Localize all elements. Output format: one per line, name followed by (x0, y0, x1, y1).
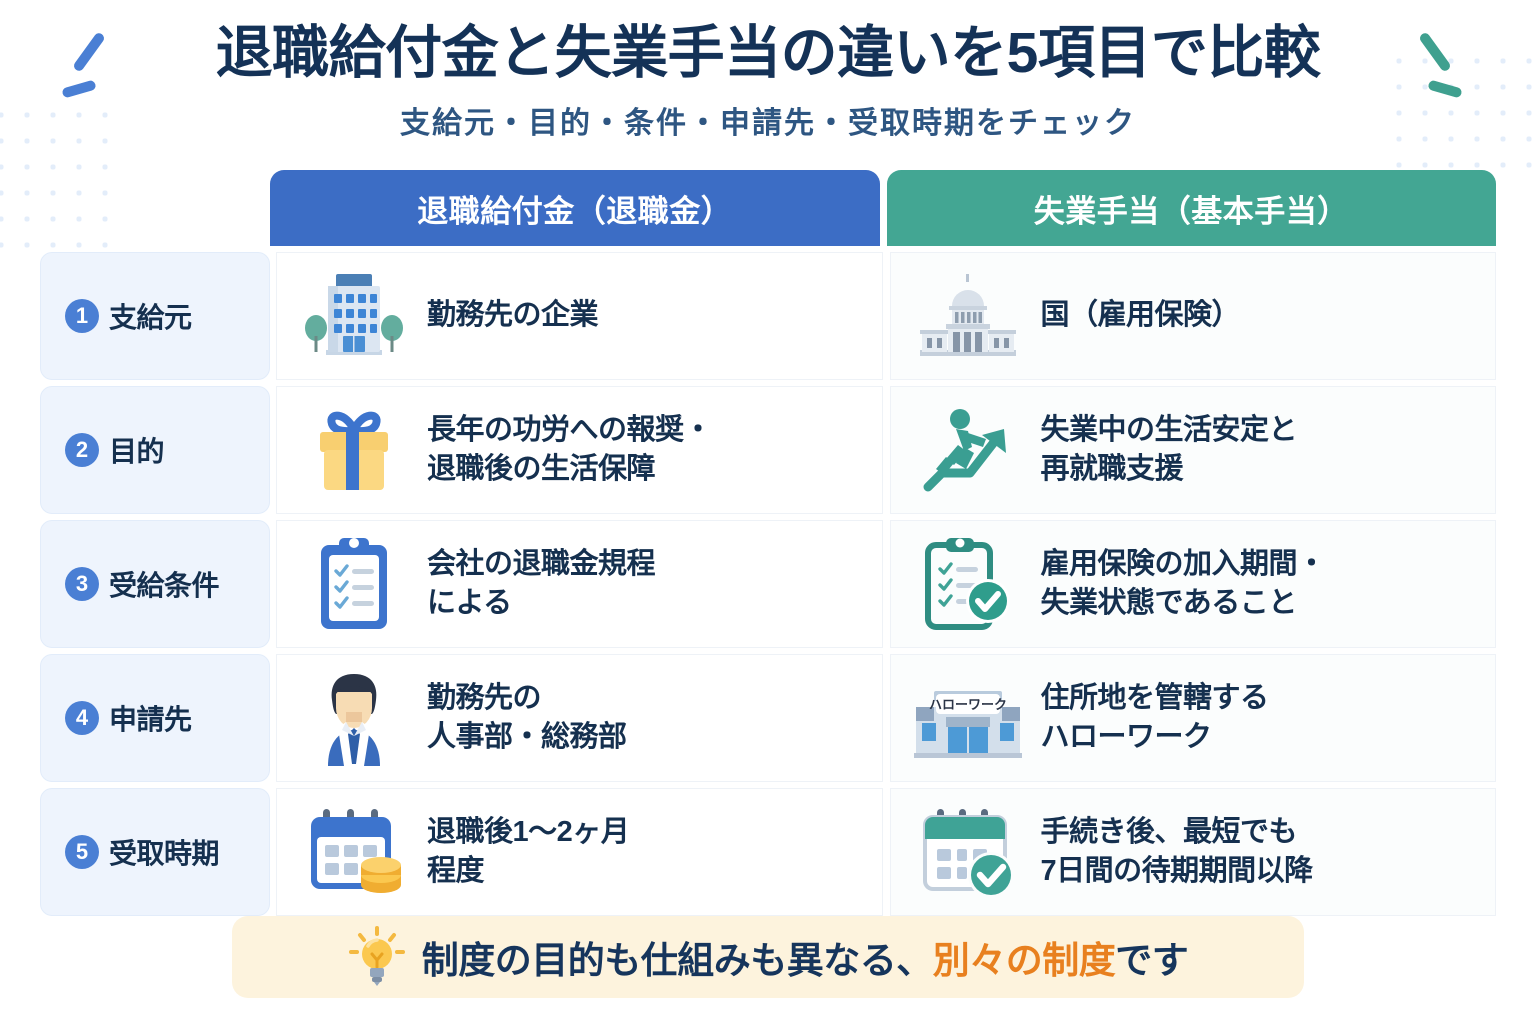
column-header-shitsugyo: 失業手当（基本手当） (887, 170, 1497, 246)
row-label-text: 目的 (109, 430, 164, 470)
row-label-text: 支給元 (109, 296, 192, 336)
row-cell-left: 勤務先の企業 (276, 252, 883, 380)
row-cell-left: 長年の功労への報奨・退職後の生活保障 (276, 386, 883, 514)
row-label-text: 申請先 (109, 698, 192, 738)
calendar-coins-icon (295, 800, 413, 904)
row-cell-text: 長年の功労への報奨・退職後の生活保障 (427, 411, 712, 490)
row-cell-text: 国（雇用保険） (1041, 296, 1241, 335)
businessman-icon (295, 666, 413, 770)
row-cell-text: 住所地を管轄するハローワーク (1041, 679, 1269, 758)
row-cell-text: 勤務先の企業 (427, 296, 598, 335)
row-label-text: 受取時期 (109, 832, 219, 872)
footer-text-after: です (1115, 940, 1188, 981)
row-cell-text: 勤務先の人事部・総務部 (427, 679, 627, 758)
row-number-badge: 2 (65, 433, 99, 467)
row-number-badge: 3 (65, 567, 99, 601)
table-row: 2 目的 長年の功労への報奨・退職後の生活保障 (40, 386, 1496, 514)
row-cell-text: 退職後1〜2ヶ月程度 (427, 813, 629, 892)
page-header: 退職給付金と失業手当の違いを5項目で比較 支給元・目的・条件・申請先・受取時期を… (0, 0, 1536, 142)
column-header-taishoku: 退職給付金（退職金） (270, 170, 880, 246)
running-person-arrow-icon (909, 398, 1027, 502)
footer-text: 制度の目的も仕組みも異なる、別々の制度です (422, 930, 1189, 984)
clipboard-checklist-check-icon (909, 532, 1027, 636)
table-row: 1 支給元 (40, 252, 1496, 380)
table-row: 4 申請先 勤務先の人事部・総務部 (40, 654, 1496, 782)
page-subtitle: 支給元・目的・条件・申請先・受取時期をチェック (0, 98, 1536, 142)
table-row: 5 受取時期 (40, 788, 1496, 916)
row-label-text: 受給条件 (109, 564, 219, 604)
lightbulb-icon (348, 926, 406, 988)
row-number-badge: 4 (65, 701, 99, 735)
row-cell-left: 退職後1〜2ヶ月程度 (276, 788, 883, 916)
header-spacer (40, 170, 270, 246)
row-cell-right: 雇用保険の加入期間・失業状態であること (890, 520, 1497, 648)
row-number-badge: 5 (65, 835, 99, 869)
page-title: 退職給付金と失業手当の違いを5項目で比較 (0, 22, 1536, 86)
clipboard-checklist-icon (295, 532, 413, 636)
row-cell-text: 会社の退職金規程による (427, 545, 655, 624)
row-cell-right: 失業中の生活安定と再就職支援 (890, 386, 1497, 514)
row-cell-text: 雇用保険の加入期間・失業状態であること (1041, 545, 1326, 624)
row-label-cell: 2 目的 (40, 386, 270, 514)
table-header-row: 退職給付金（退職金） 失業手当（基本手当） (40, 170, 1496, 246)
row-label-cell: 3 受給条件 (40, 520, 270, 648)
row-number-badge: 1 (65, 299, 99, 333)
hello-work-building-icon: ハローワーク (909, 666, 1027, 770)
office-building-icon (295, 264, 413, 368)
row-label-cell: 4 申請先 (40, 654, 270, 782)
table-row: 3 受給条件 (40, 520, 1496, 648)
row-cell-text: 手続き後、最短でも7日間の待期期間以降 (1041, 813, 1313, 892)
row-cell-right: 国（雇用保険） (890, 252, 1497, 380)
comparison-table: 退職給付金（退職金） 失業手当（基本手当） 1 支給元 (40, 170, 1496, 916)
row-cell-right: 手続き後、最短でも7日間の待期期間以降 (890, 788, 1497, 916)
footer-text-highlight: 別々の制度 (933, 940, 1116, 981)
row-label-cell: 5 受取時期 (40, 788, 270, 916)
government-building-icon (909, 264, 1027, 368)
footer-banner: 制度の目的も仕組みも異なる、別々の制度です (232, 916, 1304, 998)
hello-work-sign-label: ハローワーク (928, 697, 1006, 712)
row-cell-left: 会社の退職金規程による (276, 520, 883, 648)
row-cell-text: 失業中の生活安定と再就職支援 (1041, 411, 1298, 490)
row-cell-right: ハローワーク 住所地を管轄するハローワーク (890, 654, 1497, 782)
gift-box-icon (295, 398, 413, 502)
calendar-check-icon (909, 800, 1027, 904)
row-label-cell: 1 支給元 (40, 252, 270, 380)
footer-text-before: 制度の目的も仕組みも異なる、 (422, 940, 933, 981)
row-cell-left: 勤務先の人事部・総務部 (276, 654, 883, 782)
